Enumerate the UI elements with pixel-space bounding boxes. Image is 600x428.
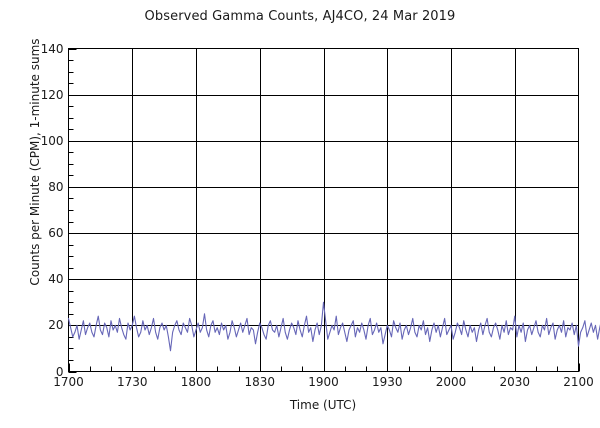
x-tick-label: 1930 bbox=[372, 375, 403, 389]
x-tick-label: 1900 bbox=[308, 375, 339, 389]
x-tick-label: 2100 bbox=[563, 375, 594, 389]
x-axis-tick-labels: 170017301800183019001930200020302100 bbox=[0, 0, 600, 428]
x-tick-label: 1830 bbox=[244, 375, 275, 389]
x-tick-label: 1800 bbox=[181, 375, 212, 389]
x-tick-label: 2030 bbox=[499, 375, 530, 389]
x-tick-label: 1700 bbox=[53, 375, 84, 389]
x-tick-label: 2000 bbox=[436, 375, 467, 389]
x-tick-label: 1730 bbox=[117, 375, 148, 389]
chart-figure: Observed Gamma Counts, AJ4CO, 24 Mar 201… bbox=[0, 0, 600, 428]
